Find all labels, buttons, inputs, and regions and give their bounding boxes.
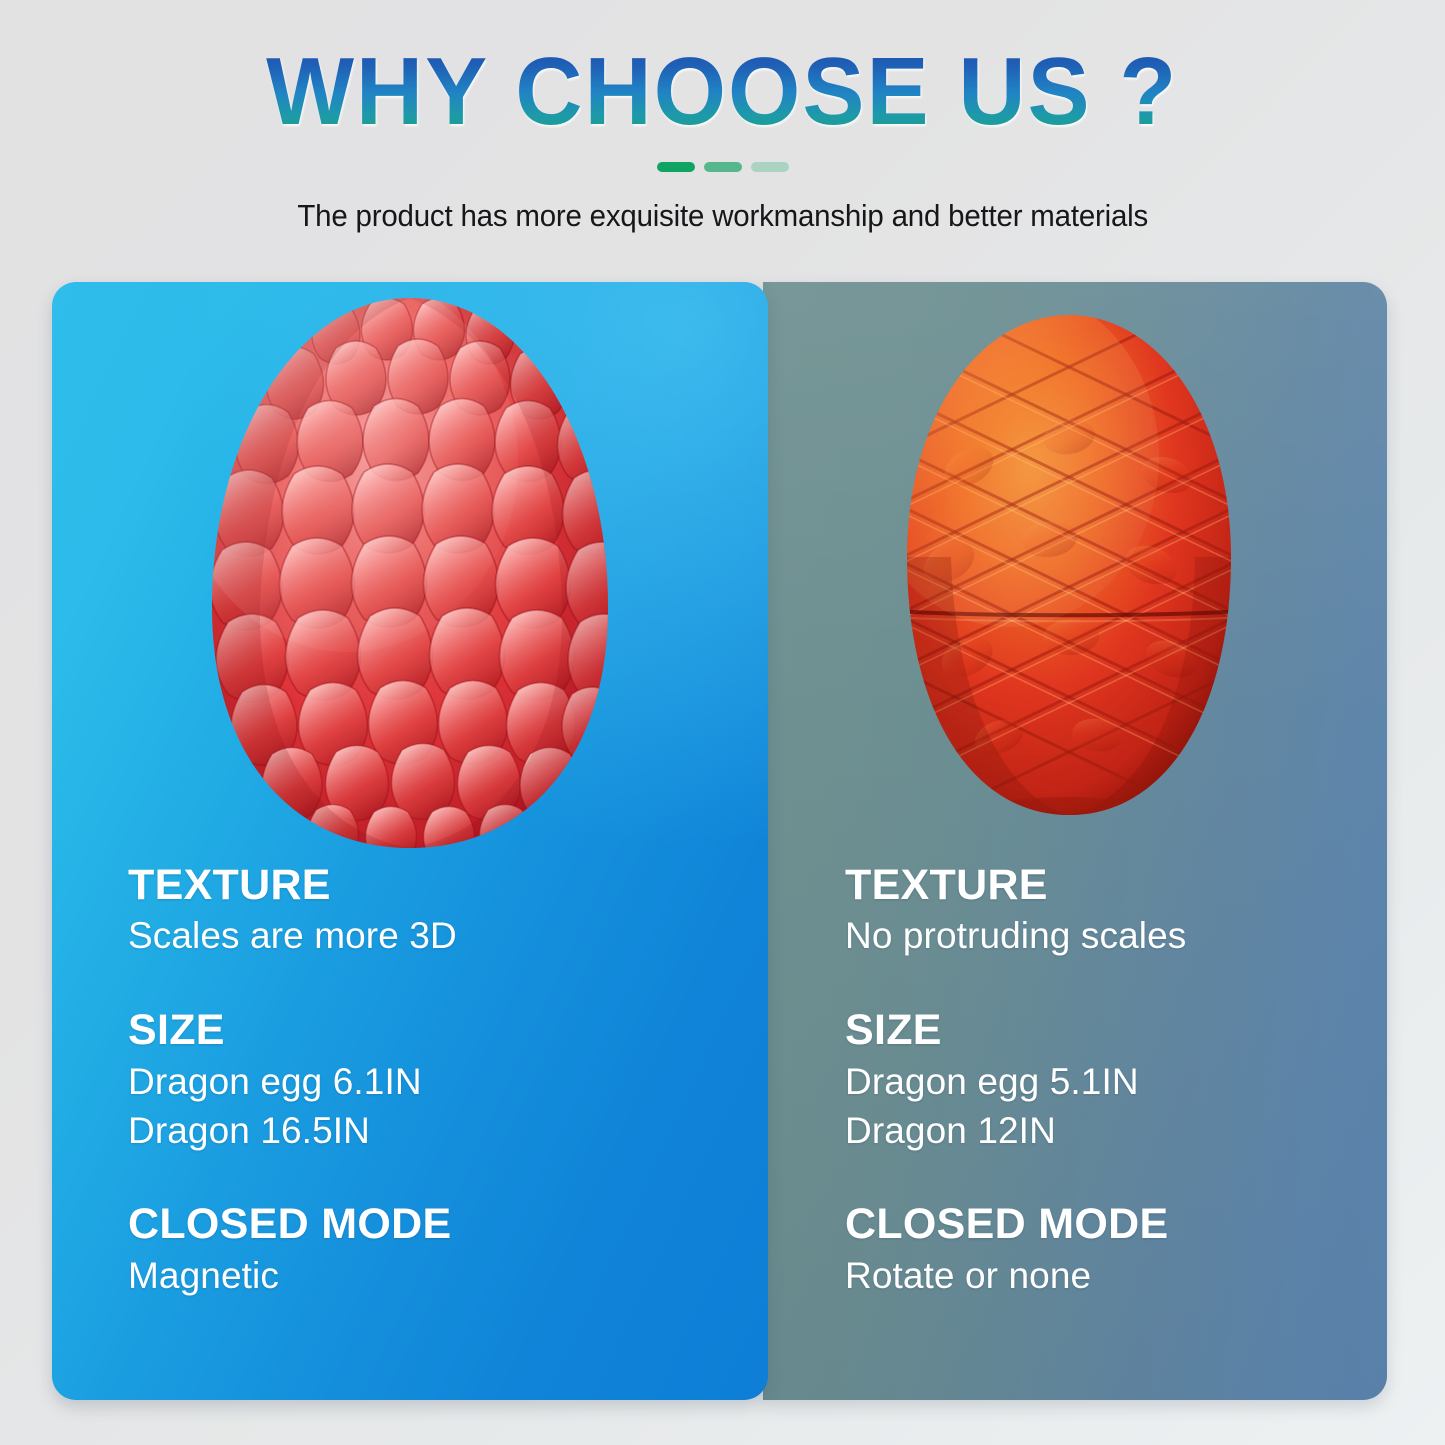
spec-value: Dragon 16.5IN (128, 1107, 768, 1156)
accent-dash-2 (704, 162, 742, 172)
spec-group-texture: TEXTURE No protruding scales (845, 862, 1387, 961)
comparison-panels: TEXTURE No protruding scales SIZE Dragon… (0, 282, 1445, 1400)
header: WHY CHOOSE US ? The product has more exq… (0, 0, 1445, 234)
spec-value: Scales are more 3D (128, 912, 768, 961)
page-title: WHY CHOOSE US ? (266, 44, 1178, 140)
spec-group-texture: TEXTURE Scales are more 3D (128, 862, 768, 961)
spec-value: Rotate or none (845, 1252, 1387, 1301)
spec-group-closed-mode: CLOSED MODE Magnetic (128, 1201, 768, 1300)
dragon-egg-icon (859, 307, 1279, 852)
spec-group-closed-mode: CLOSED MODE Rotate or none (845, 1201, 1387, 1300)
our-product-card: TEXTURE Scales are more 3D SIZE Dragon e… (52, 282, 768, 1400)
other-product-card: TEXTURE No protruding scales SIZE Dragon… (763, 282, 1387, 1400)
spec-value: No protruding scales (845, 912, 1387, 961)
spec-group-size: SIZE Dragon egg 6.1IN Dragon 16.5IN (128, 1007, 768, 1155)
spec-heading: TEXTURE (128, 862, 768, 908)
spec-value: Magnetic (128, 1252, 768, 1301)
our-product-specs: TEXTURE Scales are more 3D SIZE Dragon e… (52, 862, 768, 1301)
dragon-egg-icon (130, 292, 690, 867)
spec-heading: TEXTURE (845, 862, 1387, 908)
spec-heading: CLOSED MODE (845, 1201, 1387, 1247)
accent-dashes (0, 162, 1445, 172)
accent-dash-3 (751, 162, 789, 172)
spec-heading: CLOSED MODE (128, 1201, 768, 1247)
other-product-specs: TEXTURE No protruding scales SIZE Dragon… (763, 862, 1387, 1301)
spec-value: Dragon egg 6.1IN (128, 1058, 768, 1107)
spec-heading: SIZE (845, 1007, 1387, 1053)
spec-heading: SIZE (128, 1007, 768, 1053)
accent-dash-1 (657, 162, 695, 172)
egg-3d-scales (178, 292, 640, 866)
spec-value: Dragon egg 5.1IN (845, 1058, 1387, 1107)
spec-value: Dragon 12IN (845, 1107, 1387, 1156)
spec-group-size: SIZE Dragon egg 5.1IN Dragon 12IN (845, 1007, 1387, 1155)
other-dragon-egg-image (859, 307, 1279, 852)
page-subtitle: The product has more exquisite workmansh… (297, 198, 1148, 234)
our-dragon-egg-image (130, 292, 690, 867)
